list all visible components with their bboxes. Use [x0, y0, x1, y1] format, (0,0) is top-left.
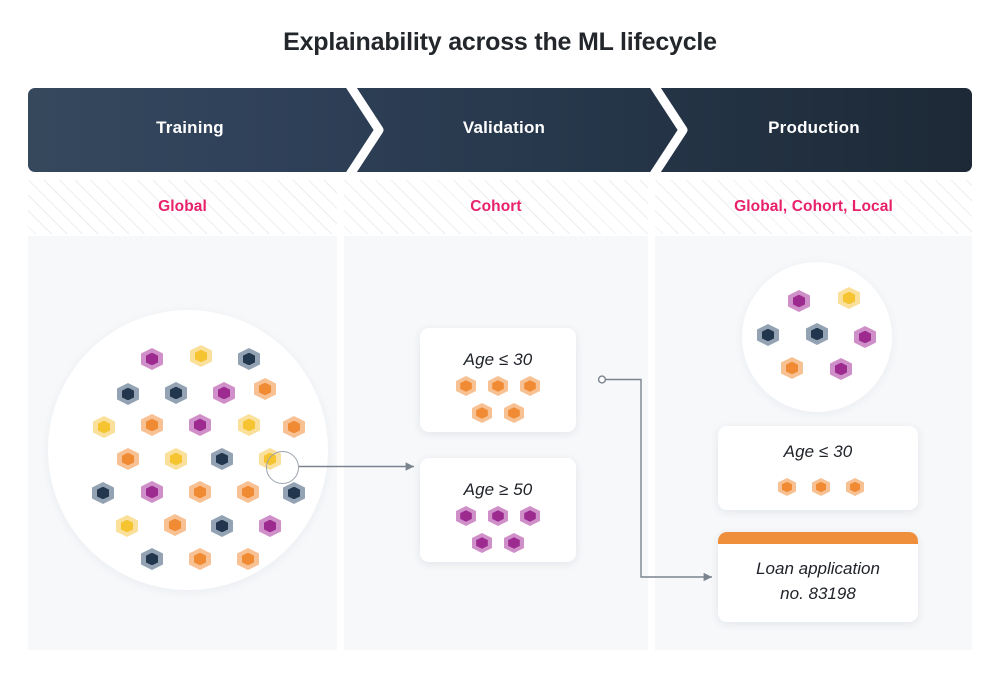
hexagon-orange — [812, 478, 830, 496]
cohort-card-title: Age ≤ 30 — [420, 350, 576, 370]
scope-band: Global Cohort Global, Cohort, Local — [28, 180, 972, 234]
hexagon-yellow — [93, 416, 115, 438]
hexagon-purple — [488, 506, 508, 526]
hexagon-purple — [520, 506, 540, 526]
hexagon-navy — [141, 548, 163, 570]
stage-label-validation: Validation — [352, 118, 656, 138]
scope-cell-production: Global, Cohort, Local — [655, 180, 972, 234]
hexagon-orange — [237, 481, 259, 503]
hexagon-orange — [846, 478, 864, 496]
cohort-card-age-under-30[interactable]: Age ≤ 30 — [420, 328, 576, 432]
local-card-line2: no. 83198 — [780, 584, 856, 603]
hexagon-purple — [189, 414, 211, 436]
hexagon-yellow — [190, 345, 212, 367]
cohort-card-age-over-50[interactable]: Age ≥ 50 — [420, 458, 576, 562]
hexagon-orange — [254, 378, 276, 400]
scope-label-global: Global — [28, 180, 337, 234]
hexagon-navy — [92, 482, 114, 504]
hexagon-purple — [830, 358, 852, 380]
scope-cell-training: Global — [28, 180, 337, 234]
hexagon-orange — [189, 548, 211, 570]
column-panel-validation — [344, 236, 648, 650]
highlighted-hexagon-ring[interactable] — [266, 451, 299, 484]
hexagon-orange — [504, 403, 524, 423]
hexagon-navy — [165, 382, 187, 404]
hexagon-navy — [211, 515, 233, 537]
hexagon-orange — [520, 376, 540, 396]
scope-cell-validation: Cohort — [344, 180, 648, 234]
hexagon-navy — [238, 348, 260, 370]
hexagon-navy — [757, 324, 779, 346]
production-local-card[interactable]: Loan application no. 83198 — [718, 532, 918, 622]
hexagon-purple — [259, 515, 281, 537]
page-title: Explainability across the ML lifecycle — [0, 28, 1000, 57]
hexagon-purple — [213, 382, 235, 404]
hexagon-yellow — [165, 448, 187, 470]
hexagon-purple — [788, 290, 810, 312]
hexagon-navy — [211, 448, 233, 470]
hexagon-orange — [237, 548, 259, 570]
hexagon-yellow — [116, 515, 138, 537]
hexagon-orange — [781, 357, 803, 379]
local-card-text: Loan application no. 83198 — [718, 556, 918, 606]
stage-label-production: Production — [656, 118, 972, 138]
hexagon-orange — [488, 376, 508, 396]
hexagon-purple — [141, 348, 163, 370]
production-cohort-card[interactable]: Age ≤ 30 — [718, 426, 918, 510]
hexagon-orange — [283, 416, 305, 438]
stage-label-training: Training — [28, 118, 352, 138]
scope-label-global-cohort-local: Global, Cohort, Local — [655, 180, 972, 234]
lifecycle-diagram: Training Validation Production Global Co… — [28, 88, 972, 650]
local-card-accent-bar — [718, 532, 918, 544]
hexagon-purple — [854, 326, 876, 348]
cohort-card-title: Age ≥ 50 — [420, 480, 576, 500]
hexagon-orange — [456, 376, 476, 396]
chevron-separator-1-icon — [339, 88, 385, 172]
hexagon-orange — [778, 478, 796, 496]
local-card-line1: Loan application — [756, 559, 880, 578]
hexagon-purple — [472, 533, 492, 553]
hexagon-navy — [806, 323, 828, 345]
hexagon-orange — [141, 414, 163, 436]
production-cohort-card-title: Age ≤ 30 — [718, 442, 918, 462]
hexagon-navy — [117, 383, 139, 405]
scope-label-cohort: Cohort — [344, 180, 648, 234]
hexagon-purple — [141, 481, 163, 503]
hexagon-orange — [164, 514, 186, 536]
chevron-separator-2-icon — [643, 88, 689, 172]
hexagon-orange — [472, 403, 492, 423]
stage-header-band: Training Validation Production — [28, 88, 972, 172]
hexagon-purple — [504, 533, 524, 553]
hexagon-navy — [283, 482, 305, 504]
hexagon-yellow — [838, 287, 860, 309]
hexagon-orange — [117, 448, 139, 470]
hexagon-orange — [189, 481, 211, 503]
training-cluster-circle — [48, 310, 328, 590]
hexagon-purple — [456, 506, 476, 526]
production-cluster-circle — [742, 262, 892, 412]
hexagon-yellow — [238, 414, 260, 436]
